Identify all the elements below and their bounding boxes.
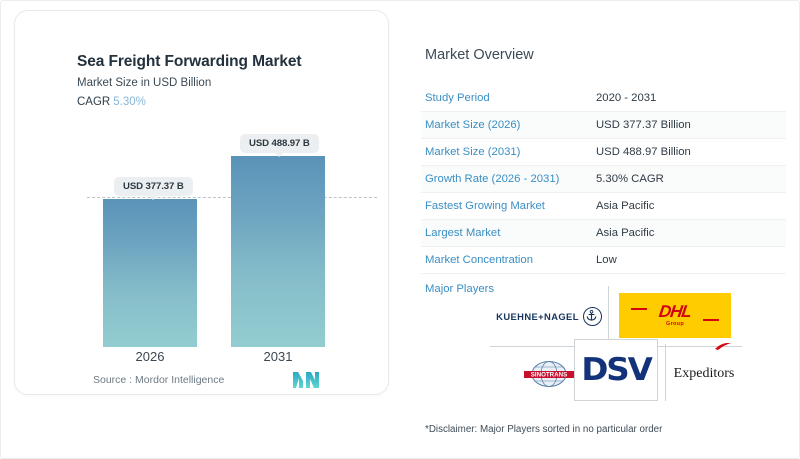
dhl-dash-left [631, 308, 647, 310]
table-row: Growth Rate (2026 - 2031) 5.30% CAGR [421, 166, 786, 193]
grid-divider-vertical-top [608, 286, 609, 346]
table-row: Market Size (2026) USD 377.37 Billion [421, 112, 786, 139]
bar-chart-plot: USD 377.37 B USD 488.97 B 2026 2031 [15, 11, 390, 396]
bar-2026[interactable] [103, 199, 197, 347]
row-label: Growth Rate (2026 - 2031) [421, 173, 596, 185]
logo-kuehne-nagel: KUEHNE+NAGEL [490, 286, 608, 346]
bar-label-2026: USD 377.37 B [114, 177, 193, 196]
dhl-wordmark: DHL [658, 303, 692, 320]
mordor-intelligence-logo [293, 372, 319, 388]
table-row: Market Concentration Low [421, 247, 786, 274]
row-value: 2020 - 2031 [596, 92, 656, 104]
row-label: Market Concentration [421, 254, 596, 266]
expeditors-swoosh-icon [715, 343, 732, 351]
page-frame: Sea Freight Forwarding Market Market Siz… [0, 0, 800, 459]
market-overview-table: Study Period 2020 - 2031 Market Size (20… [421, 85, 786, 274]
row-value: 5.30% CAGR [596, 173, 664, 185]
major-players-label: Major Players [425, 283, 494, 295]
row-value: USD 488.97 Billion [596, 146, 691, 158]
table-row: Market Size (2031) USD 488.97 Billion [421, 139, 786, 166]
x-axis-tick-2026: 2026 [103, 349, 197, 364]
row-label: Fastest Growing Market [421, 200, 596, 212]
row-value: Asia Pacific [596, 200, 654, 212]
bars-container [15, 156, 390, 347]
table-row: Fastest Growing Market Asia Pacific [421, 193, 786, 220]
kuehne-nagel-wordmark: KUEHNE+NAGEL [496, 311, 579, 322]
row-label: Market Size (2031) [421, 146, 596, 158]
source-text: Source : Mordor Intelligence [93, 374, 224, 386]
expeditors-wordmark: Expeditors [674, 366, 735, 382]
bar-label-2031: USD 488.97 B [240, 134, 319, 153]
row-value: USD 377.37 Billion [596, 119, 691, 131]
anchor-icon [583, 307, 602, 326]
row-value: Low [596, 254, 617, 266]
market-overview-heading: Market Overview [425, 47, 534, 63]
logo-expeditors: Expeditors [666, 348, 742, 400]
dhl-dash-right [703, 319, 719, 321]
row-value: Asia Pacific [596, 227, 654, 239]
x-axis-tick-2031: 2031 [231, 349, 325, 364]
logo-dsv: DSV [574, 339, 658, 401]
dsv-wordmark: DSV [581, 355, 650, 386]
sinotrans-wordmark: SINOTRANS [531, 372, 567, 379]
dhl-badge: DHL Group [619, 293, 731, 338]
table-row: Largest Market Asia Pacific [421, 220, 786, 247]
table-row: Study Period 2020 - 2031 [421, 85, 786, 112]
bar-2031[interactable] [231, 156, 325, 347]
row-label: Market Size (2026) [421, 119, 596, 131]
sinotrans-mark: SINOTRANS [518, 359, 580, 389]
disclaimer-text: *Disclaimer: Major Players sorted in no … [425, 424, 662, 435]
chart-card: Sea Freight Forwarding Market Market Siz… [14, 10, 389, 395]
row-label: Largest Market [421, 227, 596, 239]
row-label: Study Period [421, 92, 596, 104]
dhl-sub-wordmark: Group [666, 321, 684, 327]
logo-dhl: DHL Group [615, 291, 735, 339]
